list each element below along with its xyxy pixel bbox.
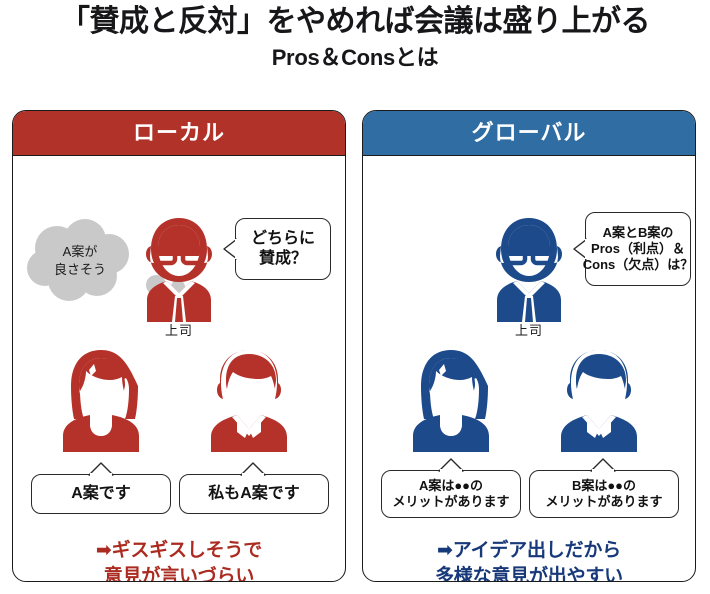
female-person-icon: [399, 348, 503, 452]
boss-speech-line-1: A案とB案の: [583, 225, 694, 241]
boss-with-glasses-icon: [131, 216, 227, 322]
conclusion-global: ➡アイデア出しだから 多様な意見が出やすい: [363, 538, 695, 582]
panel-global-body: 上司 A案とB案の Pros（利点）＆ Cons（欠点）は？: [363, 156, 695, 582]
conclusion-local-line-1: ➡ギスギスしそうで: [13, 538, 345, 564]
boss-speech-bubble-local: どちらに 賛成？: [235, 218, 331, 280]
person-right-figure-local: [197, 348, 301, 452]
boss-speech-bubble-global: A案とB案の Pros（利点）＆ Cons（欠点）は？: [585, 212, 691, 286]
boss-speech-line-2: Pros（利点）＆: [583, 241, 694, 257]
person-left-bubble-line-1: A案です: [71, 484, 131, 504]
conclusion-global-line-1: ➡アイデア出しだから: [363, 538, 695, 564]
panel-global: グローバル 上司: [362, 110, 696, 582]
person-left-bubble-local: A案です: [31, 474, 171, 514]
person-left-figure-local: [49, 348, 153, 452]
bubble-tail-up-icon: [590, 458, 616, 472]
bubble-tail-up-icon: [240, 462, 266, 476]
page-title: 「賛成と反対」をやめれば会議は盛り上がる: [0, 0, 710, 38]
person-left-bubble-text-global: A案は●●の メリットがあります: [392, 478, 509, 511]
panel-local-body: A案が 良さそう: [13, 156, 345, 582]
bubble-tail-left-icon: [573, 238, 587, 260]
arrow-icon: ➡: [96, 540, 112, 561]
male-person-icon: [547, 348, 651, 452]
person-left-bubble-line-2: メリットがあります: [392, 494, 509, 510]
page-subtitle: Pros＆Consとは: [0, 38, 710, 70]
person-left-bubble-text-local: A案です: [71, 484, 131, 504]
person-right-bubble-line-2: メリットがあります: [545, 494, 662, 510]
person-right-figure-global: [547, 348, 651, 452]
arrow-icon: ➡: [437, 540, 453, 561]
panel-local: ローカル A案が 良さそう: [12, 110, 346, 582]
boss-speech-line-2: 賛成？: [251, 249, 315, 269]
bubble-tail-left-icon: [223, 238, 237, 260]
boss-speech-line-1: どちらに: [251, 229, 315, 249]
boss-figure-local: [131, 216, 227, 322]
person-right-bubble-line-1: B案は●●の: [545, 478, 662, 494]
title-block: 「賛成と反対」をやめれば会議は盛り上がる Pros＆Consとは: [0, 0, 710, 70]
panel-local-header: ローカル: [13, 111, 345, 156]
conclusion-global-line-2: 多様な意見が出やすい: [363, 564, 695, 582]
thought-line-1: A案が: [63, 243, 98, 261]
thought-line-2: 良さそう: [54, 261, 106, 279]
boss-label-local: 上司: [131, 320, 227, 339]
conclusion-local: ➡ギスギスしそうで 意見が言いづらい: [13, 538, 345, 582]
person-right-bubble-line-1: 私もA案です: [208, 484, 300, 504]
boss-speech-text-local: どちらに 賛成？: [251, 229, 315, 269]
person-left-bubble-global: A案は●●の メリットがあります: [381, 470, 521, 518]
person-right-bubble-text-local: 私もA案です: [208, 484, 300, 504]
panel-global-header: グローバル: [363, 111, 695, 156]
boss-speech-text-global: A案とB案の Pros（利点）＆ Cons（欠点）は？: [583, 225, 694, 274]
person-right-bubble-local: 私もA案です: [179, 474, 329, 514]
conclusion-local-line-2: 意見が言いづらい: [13, 564, 345, 582]
female-person-icon: [49, 348, 153, 452]
male-person-icon: [197, 348, 301, 452]
boss-figure-global: [481, 216, 577, 322]
person-right-bubble-text-global: B案は●●の メリットがあります: [545, 478, 662, 511]
person-right-bubble-global: B案は●●の メリットがあります: [529, 470, 679, 518]
bubble-tail-up-icon: [88, 462, 114, 476]
boss-with-glasses-icon: [481, 216, 577, 322]
person-left-figure-global: [399, 348, 503, 452]
bubble-tail-up-icon: [438, 458, 464, 472]
boss-speech-line-3: Cons（欠点）は？: [583, 257, 694, 273]
person-left-bubble-line-1: A案は●●の: [392, 478, 509, 494]
boss-label-global: 上司: [481, 320, 577, 339]
